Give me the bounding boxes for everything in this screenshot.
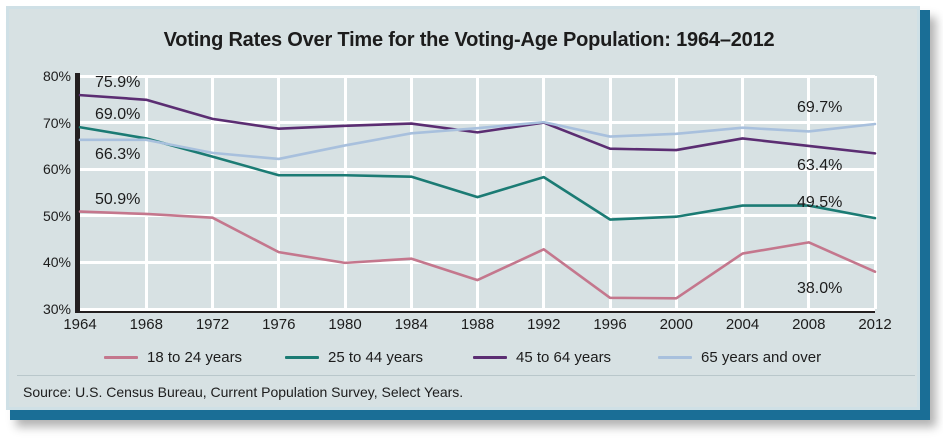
legend-swatch-icon xyxy=(285,356,319,359)
figure-card: Voting Rates Over Time for the Voting-Ag… xyxy=(9,9,929,419)
x-axis-tick-label: 2000 xyxy=(660,316,693,333)
x-axis-tick-label: 2008 xyxy=(792,316,825,333)
y-axis-tick-label: 80% xyxy=(9,68,71,84)
source-note: Source: U.S. Census Bureau, Current Popu… xyxy=(23,384,463,400)
x-axis-tick-label: 1972 xyxy=(196,316,229,333)
series-value-label: 50.9% xyxy=(95,191,140,209)
series-value-label: 69.7% xyxy=(797,99,842,117)
x-axis-tick-label: 1996 xyxy=(593,316,626,333)
series-value-label: 38.0% xyxy=(797,280,842,298)
x-axis-tick-label: 2012 xyxy=(858,316,891,333)
x-axis-tick-label: 1980 xyxy=(328,316,361,333)
series-line xyxy=(80,212,875,299)
y-axis-tick-label: 30% xyxy=(9,301,71,317)
x-axis-tick-label: 1964 xyxy=(63,316,96,333)
y-axis-ticks: 30%40%50%60%70%80% xyxy=(9,76,71,309)
y-axis-tick-label: 70% xyxy=(9,115,71,131)
legend-label: 45 to 64 years xyxy=(516,349,611,366)
y-axis-tick-label: 60% xyxy=(9,161,71,177)
series-value-label: 75.9% xyxy=(95,74,140,92)
series-value-label: 66.3% xyxy=(95,146,140,164)
series-line xyxy=(80,95,875,153)
y-axis-tick-label: 50% xyxy=(9,208,71,224)
legend-label: 25 to 44 years xyxy=(328,349,423,366)
x-axis-tick-label: 2004 xyxy=(726,316,759,333)
x-axis-tick-label: 1976 xyxy=(262,316,295,333)
legend-swatch-icon xyxy=(473,356,507,359)
legend-label: 65 years and over xyxy=(701,349,821,366)
x-axis-tick-label: 1992 xyxy=(527,316,560,333)
figure-frame: Voting Rates Over Time for the Voting-Ag… xyxy=(6,6,920,410)
x-axis-tick-label: 1988 xyxy=(461,316,494,333)
series-value-label: 69.0% xyxy=(95,106,140,124)
legend-item[interactable]: 18 to 24 years xyxy=(104,345,242,369)
legend-item[interactable]: 45 to 64 years xyxy=(473,345,611,369)
y-axis-tick-label: 40% xyxy=(9,254,71,270)
series-value-label: 63.4% xyxy=(797,157,842,175)
chart-legend: 18 to 24 years25 to 44 years45 to 64 yea… xyxy=(80,345,880,369)
legend-item[interactable]: 65 years and over xyxy=(658,345,821,369)
legend-item[interactable]: 25 to 44 years xyxy=(285,345,423,369)
series-value-label: 49.5% xyxy=(797,194,842,212)
plot-area xyxy=(80,76,875,309)
x-axis-tick-label: 1968 xyxy=(130,316,163,333)
legend-swatch-icon xyxy=(104,356,138,359)
source-divider xyxy=(17,375,915,376)
x-axis-tick-label: 1984 xyxy=(395,316,428,333)
legend-label: 18 to 24 years xyxy=(147,349,242,366)
figure-root: Voting Rates Over Time for the Voting-Ag… xyxy=(0,0,943,439)
series-lines xyxy=(80,76,875,309)
chart-title: Voting Rates Over Time for the Voting-Ag… xyxy=(9,29,929,52)
legend-swatch-icon xyxy=(658,356,692,359)
